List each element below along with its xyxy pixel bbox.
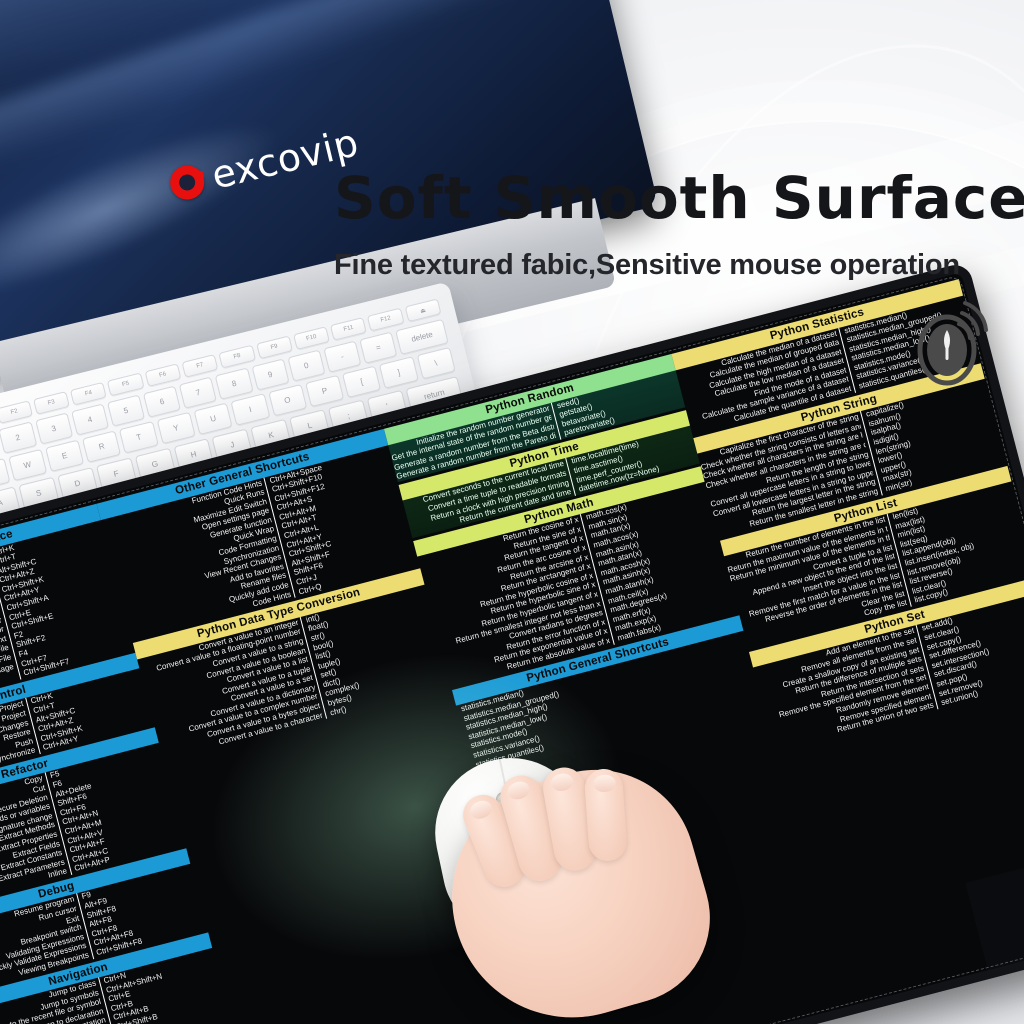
page-subtitle: Fine textured fabic,Sensitive mouse oper…	[334, 249, 994, 282]
keyboard-key[interactable]: I	[231, 393, 270, 426]
keyboard-key[interactable]: 3	[35, 412, 73, 444]
keyboard-key[interactable]: O	[268, 384, 307, 417]
keyboard-key[interactable]: \	[416, 347, 455, 380]
headline-block: Soft Smooth Surface Fine textured fabic,…	[334, 168, 994, 282]
keyboard-key[interactable]: 4	[71, 403, 109, 435]
logo-mark-icon	[167, 162, 208, 203]
keyboard-key[interactable]: ]	[379, 356, 418, 389]
wireless-mouse-icon	[912, 300, 1004, 386]
page-title: Soft Smooth Surface	[334, 168, 994, 229]
keyboard-key[interactable]: 6	[143, 385, 181, 417]
keyboard-key[interactable]: Y	[156, 412, 195, 445]
keyboard-key[interactable]: U	[194, 402, 233, 435]
hand-with-mouse	[430, 740, 730, 1024]
keyboard-key[interactable]: E	[45, 440, 84, 473]
keyboard-key[interactable]: 5	[107, 394, 145, 426]
keyboard-key[interactable]: 8	[215, 367, 253, 399]
keyboard-key[interactable]: -	[323, 340, 361, 372]
keyboard-key[interactable]: 0	[287, 349, 325, 381]
keyboard-key[interactable]: 7	[179, 376, 217, 408]
keyboard-key[interactable]: W	[8, 449, 47, 482]
keyboard-key[interactable]: =	[359, 331, 397, 363]
keyboard-key[interactable]: 2	[0, 421, 37, 453]
keyboard-key[interactable]: Q	[0, 458, 10, 491]
keyboard-key[interactable]: T	[119, 421, 158, 454]
keyboard-key[interactable]: 9	[251, 358, 289, 390]
keyboard-key[interactable]: P	[305, 375, 344, 408]
keyboard-key[interactable]: R	[82, 430, 121, 463]
keyboard-key[interactable]: [	[342, 365, 381, 398]
